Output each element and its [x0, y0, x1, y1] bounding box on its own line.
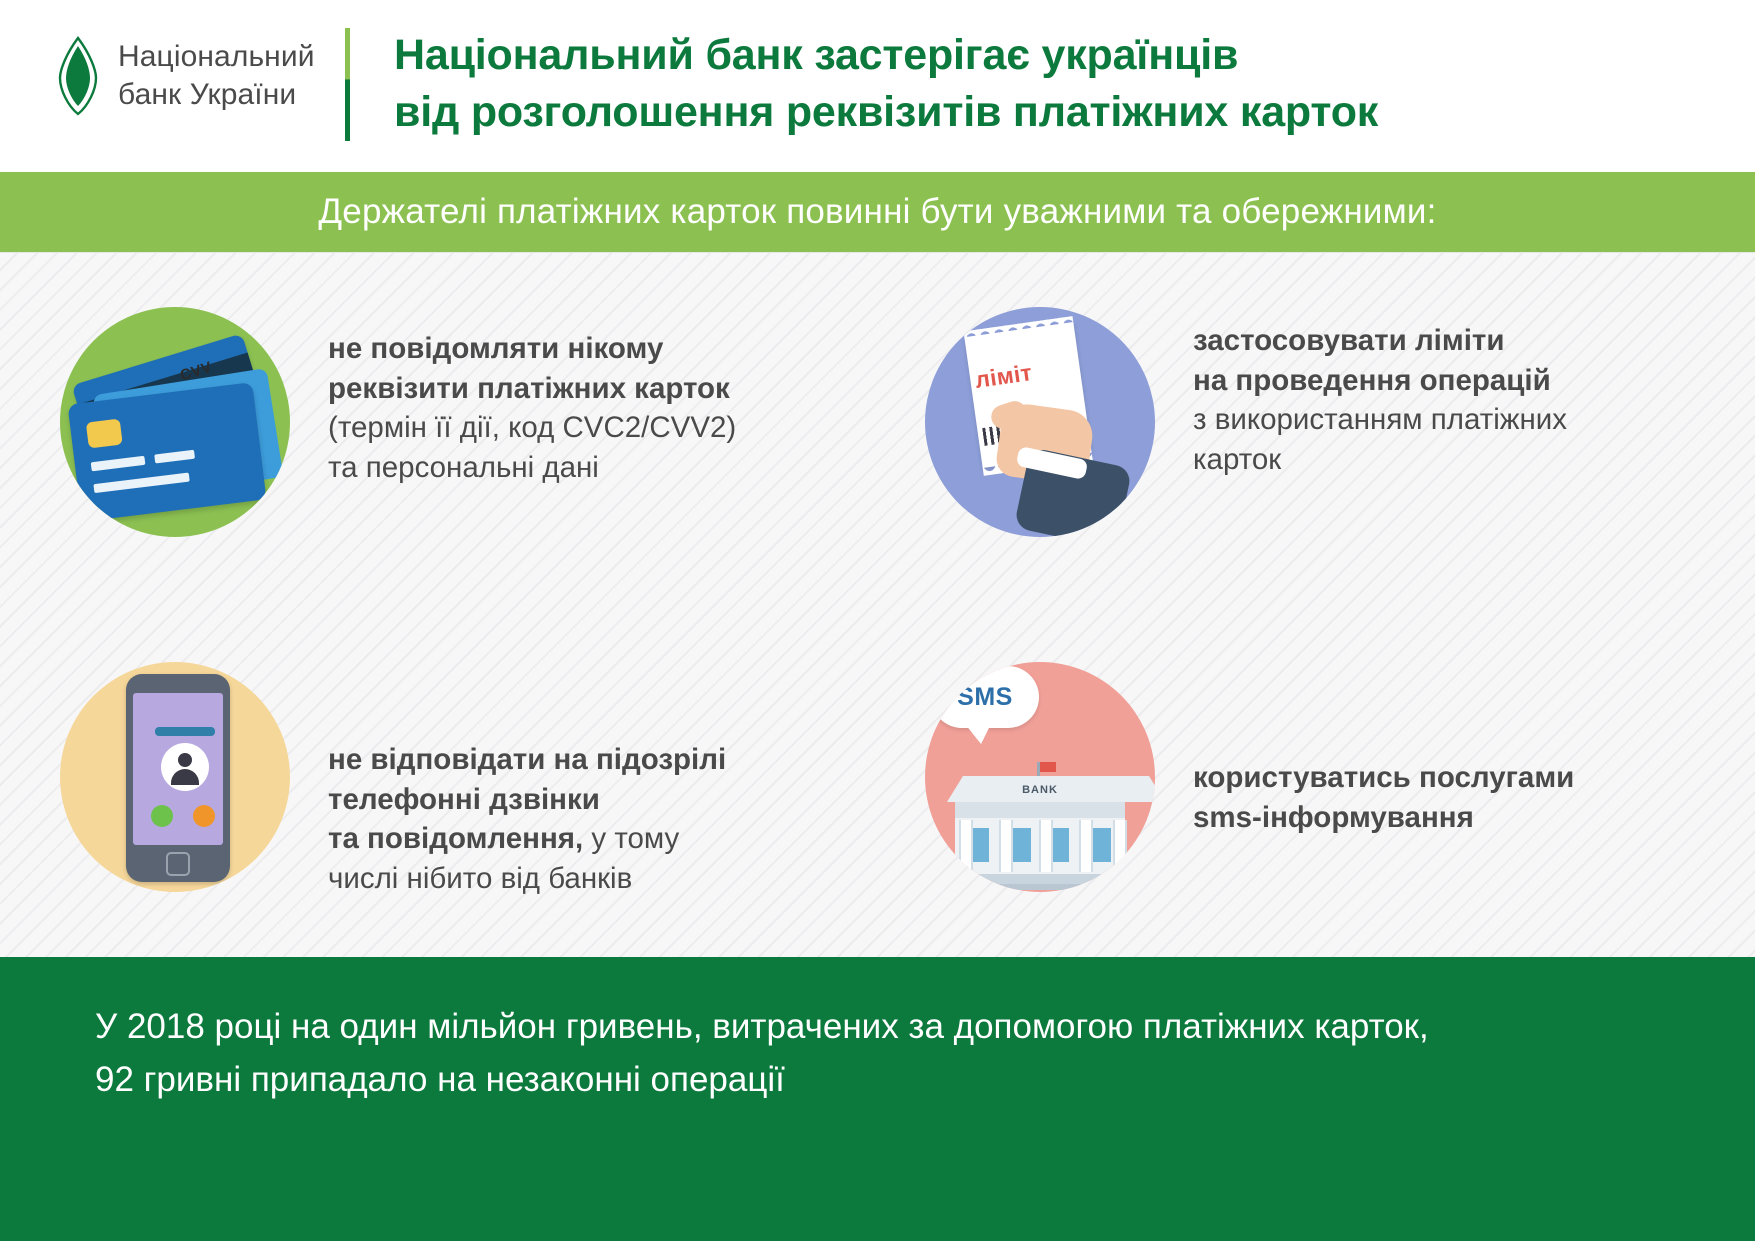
smartphone-call-icon	[60, 662, 290, 892]
answer-call-icon	[151, 805, 173, 827]
nbu-logo: Національний банк України	[52, 36, 315, 116]
page-title-line-2: від розголошення реквізитів платіжних ка…	[394, 84, 1694, 141]
bank-flag	[1040, 762, 1056, 772]
advice-card-cards-text: не повідомляти нікому реквізити платіжни…	[328, 307, 868, 487]
advice-2-bold-1: застосовувати ліміти	[1193, 321, 1723, 361]
page-title: Національний банк застерігає українців в…	[394, 27, 1694, 141]
advice-3-reg-2: числі нібито від банків	[328, 859, 868, 899]
phone-body	[126, 674, 230, 882]
bank-window-3	[1051, 828, 1069, 862]
bank-window-2	[1013, 828, 1031, 862]
page-header: Національний банк України Національний б…	[0, 0, 1755, 172]
logo-line-2: банк України	[118, 76, 315, 114]
header-divider	[345, 28, 350, 141]
bank-column-5	[1113, 820, 1127, 872]
card-front-shape	[68, 382, 267, 522]
message-icon	[193, 805, 215, 827]
advice-2-reg-2: карток	[1193, 440, 1723, 480]
infographic-page: Національний банк України Національний б…	[0, 0, 1755, 1241]
bank-column-3	[1039, 820, 1053, 872]
card-chip	[86, 419, 123, 449]
hand-receipt-limit-icon: ліміт	[925, 307, 1155, 537]
advice-card-calls: не відповідати на підозрілі телефонні дз…	[60, 662, 868, 898]
page-footer: У 2018 році на один мільйон гривень, вит…	[0, 957, 1755, 1241]
nbu-logo-text: Національний банк України	[118, 38, 315, 115]
advice-1-reg-2: та персональні дані	[328, 448, 868, 488]
advice-3-bold-1: не відповідати на підозрілі	[328, 740, 868, 780]
phone-home-button	[166, 852, 190, 876]
logo-line-1: Національний	[118, 38, 315, 76]
bank-building: BANK	[947, 758, 1133, 882]
card-name-line	[93, 473, 189, 494]
advice-2-reg-1: з використанням платіжних	[1193, 400, 1723, 440]
advice-1-reg-1: (термін її дії, код CVC2/CVV2)	[328, 408, 868, 448]
bank-column-1	[959, 820, 973, 872]
footer-line-1: У 2018 році на один мільйон гривень, вит…	[95, 1001, 1755, 1054]
footer-statistic: У 2018 році на один мільйон гривень, вит…	[95, 1001, 1755, 1106]
footer-line-2: 92 гривні припадало на незаконні операці…	[95, 1054, 1755, 1107]
advice-card-limits: ліміт застосовувати ліміти на проведення…	[925, 307, 1723, 537]
bank-sms-icon: SMS BANK	[925, 662, 1155, 892]
card-number-line-a	[91, 456, 146, 472]
bank-label: BANK	[947, 784, 1133, 796]
bank-column-2	[999, 820, 1013, 872]
advice-card-sms: SMS BANK	[925, 662, 1723, 892]
advice-2-bold-2: на проведення операцій	[1193, 361, 1723, 401]
advice-1-bold-2: реквізити платіжних карток	[328, 369, 868, 409]
caller-avatar	[161, 743, 209, 791]
phone-screen	[133, 693, 223, 845]
bank-window-4	[1093, 828, 1111, 862]
advice-card-calls-text: не відповідати на підозрілі телефонні дз…	[328, 662, 868, 898]
advice-3-bold-2: телефонні дзвінки	[328, 780, 868, 820]
receipt-top-edge	[964, 316, 1074, 339]
bank-entablature	[955, 802, 1125, 818]
advice-section: CVV не повідомляти нікому реквізити плат…	[0, 252, 1755, 957]
subhead-banner: Держателі платіжних карток повинні бути …	[0, 172, 1755, 252]
credit-cards-icon: CVV	[60, 307, 290, 537]
card-number-line-b	[154, 450, 195, 464]
advice-1-bold-1: не повідомляти нікому	[328, 329, 868, 369]
advice-grid: CVV не повідомляти нікому реквізити плат…	[0, 252, 1755, 957]
page-title-line-1: Національний банк застерігає українців	[394, 27, 1694, 84]
advice-3-reg-tail: у тому	[583, 822, 679, 855]
bank-column-4	[1079, 820, 1093, 872]
bank-window-1	[971, 828, 989, 862]
nbu-logo-mark	[52, 36, 104, 116]
advice-card-limits-text: застосовувати ліміти на проведення опера…	[1193, 307, 1723, 479]
screen-header-bar	[155, 727, 215, 736]
advice-card-cards: CVV не повідомляти нікому реквізити плат…	[60, 307, 868, 537]
sms-bubble-label: SMS	[931, 666, 1039, 728]
advice-3-bold-3: та повідомлення,	[328, 822, 583, 855]
bank-steps	[943, 884, 1137, 890]
advice-4-bold-2: sms-інформування	[1193, 798, 1723, 838]
advice-4-bold-1: користуватись послугами	[1193, 758, 1723, 798]
advice-card-sms-text: користуватись послугами sms-інформування	[1193, 662, 1723, 837]
bank-base	[947, 874, 1133, 884]
subhead-text: Держателі платіжних карток повинні бути …	[318, 192, 1436, 232]
